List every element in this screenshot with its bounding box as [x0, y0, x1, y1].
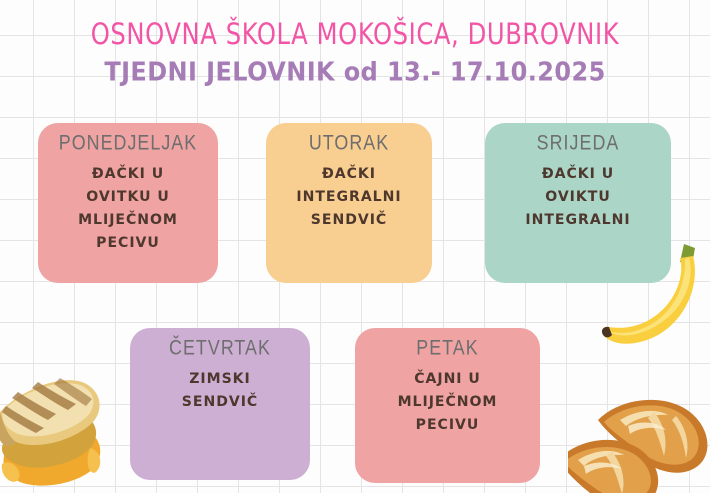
meal-text-friday: ČAJNI UMLIJEČNOMPECIVU: [366, 368, 530, 437]
meal-text-thursday: ZIMSKISENDVIČ: [140, 368, 299, 414]
poster-header: OSNOVNA ŠKOLA MOKOŠICA, DUBROVNIK TJEDNI…: [0, 18, 710, 86]
grilled-cheese-sandwich-icon: [0, 352, 126, 493]
croissants-icon: [568, 368, 710, 493]
meal-text-monday: ĐAČKI UOVITKU UMLIJEČNOMPECIVU: [48, 163, 207, 255]
banana-icon: [596, 232, 708, 352]
weekly-menu-poster: OSNOVNA ŠKOLA MOKOŠICA, DUBROVNIK TJEDNI…: [0, 0, 710, 493]
menu-card-tuesday: UTORAK ĐAČKIINTEGRALNISENDVIČ: [266, 123, 432, 283]
day-label-monday: PONEDJELJAK: [51, 132, 205, 156]
page-subtitle: TJEDNI JELOVNIK od 13.- 17.10.2025: [0, 57, 710, 87]
meal-text-wednesday: ĐAČKI UOVIKTUINTEGRALNI: [496, 163, 661, 232]
day-label-tuesday: UTORAK: [279, 132, 420, 156]
day-label-thursday: ČETVRTAK: [143, 337, 297, 361]
page-title: OSNOVNA ŠKOLA MOKOŠICA, DUBROVNIK: [11, 18, 700, 51]
day-label-friday: PETAK: [368, 337, 527, 361]
menu-card-friday: PETAK ČAJNI UMLIJEČNOMPECIVU: [355, 328, 540, 483]
day-label-wednesday: SRIJEDA: [498, 132, 658, 156]
menu-card-thursday: ČETVRTAK ZIMSKISENDVIČ: [130, 328, 310, 480]
menu-card-monday: PONEDJELJAK ĐAČKI UOVITKU UMLIJEČNOMPECI…: [38, 123, 218, 283]
meal-text-tuesday: ĐAČKIINTEGRALNISENDVIČ: [276, 163, 422, 232]
